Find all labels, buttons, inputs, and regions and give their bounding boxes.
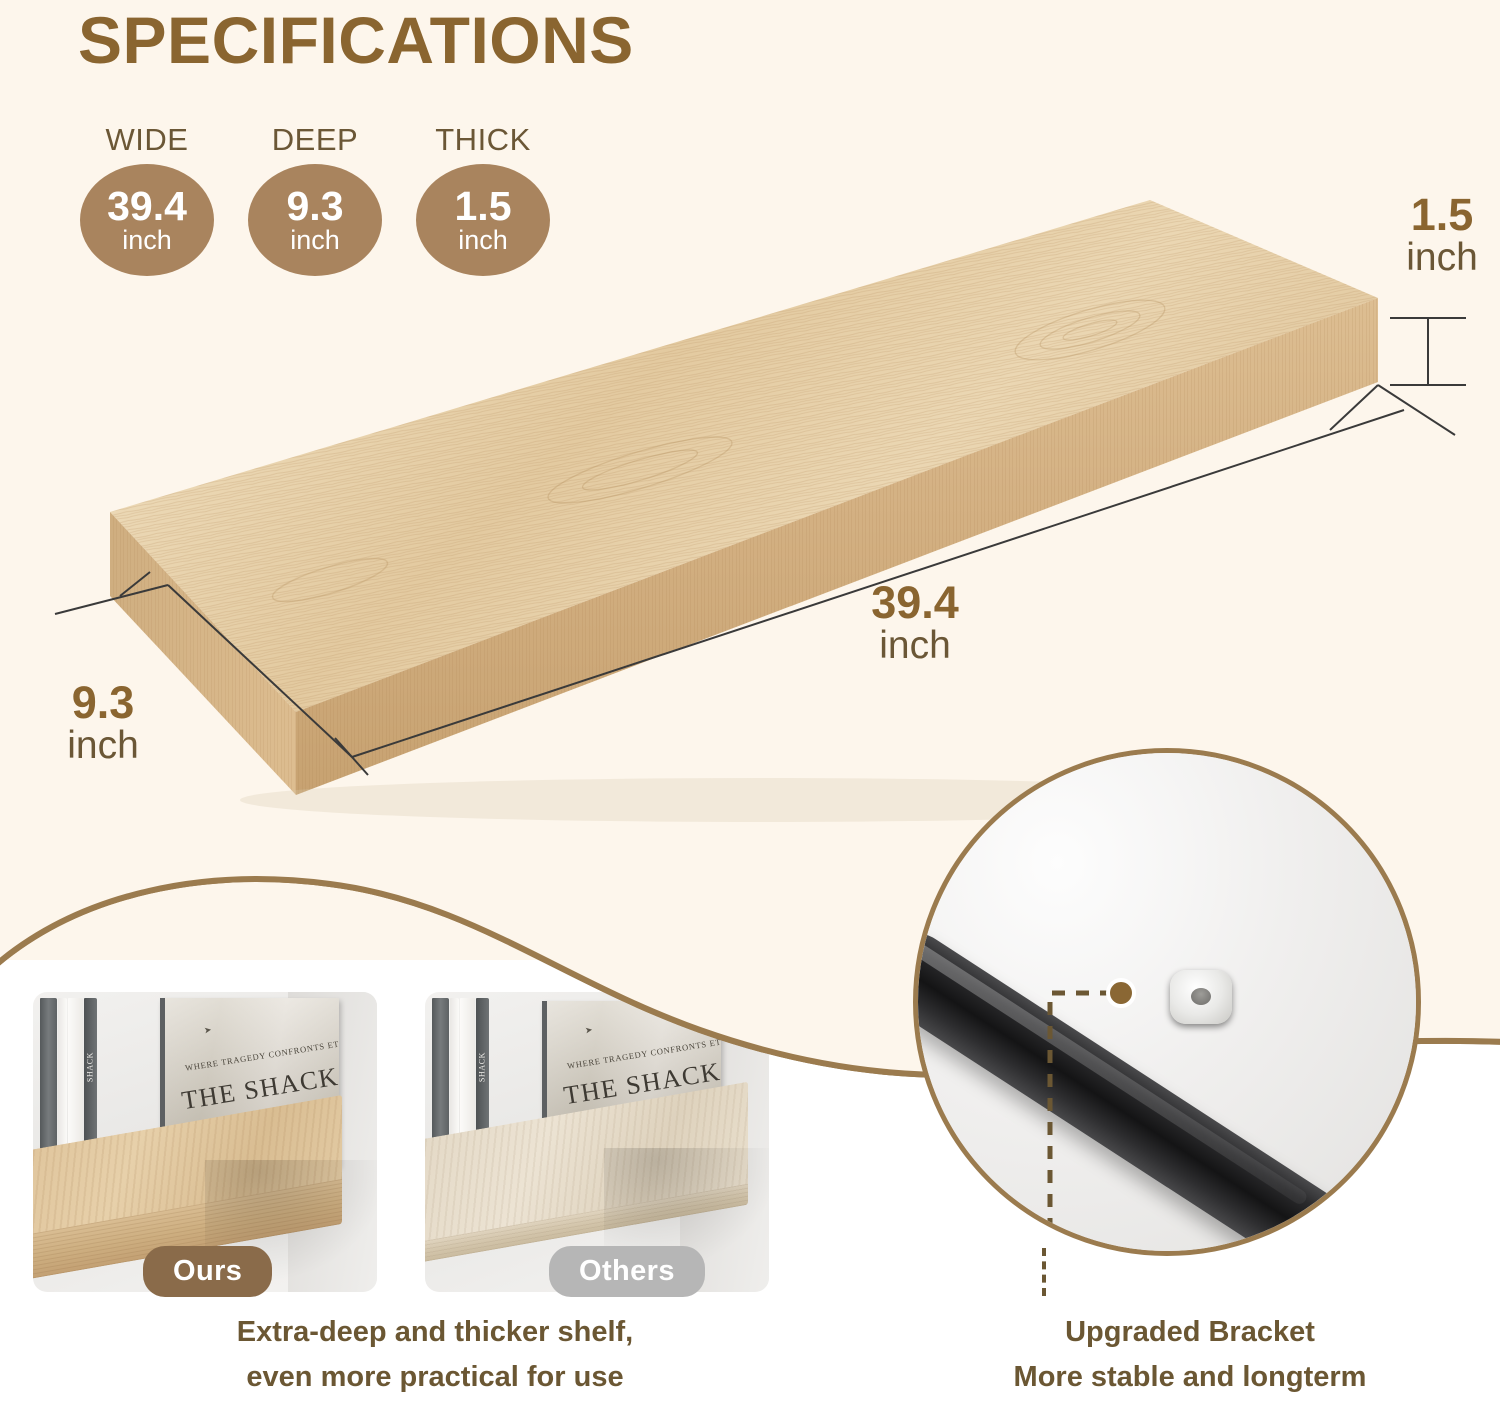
dimension-unit-depth: inch <box>28 725 178 768</box>
dimension-value-depth: 9.3 <box>28 680 178 725</box>
badge-others[interactable]: Others <box>549 1246 705 1297</box>
page-title: SPECIFICATIONS <box>78 2 634 78</box>
spec-value-thick: 1.5 <box>455 186 512 226</box>
bracket-caption: Upgraded Bracket More stable and longter… <box>955 1310 1425 1400</box>
spec-circle-thick: 1.5 inch <box>416 164 550 276</box>
bracket-detail-circle <box>913 748 1421 1256</box>
spec-item-wide: WIDE 39.4 inch <box>76 122 218 276</box>
spec-circle-deep: 9.3 inch <box>248 164 382 276</box>
spec-caption-deep: DEEP <box>244 122 386 158</box>
bracket-caption-line2: More stable and longterm <box>955 1355 1425 1400</box>
spec-caption-wide: WIDE <box>76 122 218 158</box>
spec-item-deep: DEEP 9.3 inch <box>244 122 386 276</box>
spec-unit-thick: inch <box>458 226 508 254</box>
dimension-label-width: 39.4 inch <box>820 580 1010 668</box>
bracket-marker-dot <box>1106 978 1136 1008</box>
comparison-caption-line2: even more practical for use <box>110 1355 760 1400</box>
spec-badge-row: WIDE 39.4 inch DEEP 9.3 inch THICK 1.5 i… <box>76 122 554 276</box>
dimension-value-width: 39.4 <box>820 580 1010 625</box>
dimension-unit-thickness: inch <box>1382 237 1500 280</box>
dimension-value-thickness: 1.5 <box>1382 192 1500 237</box>
dimension-unit-width: inch <box>820 625 1010 668</box>
spec-item-thick: THICK 1.5 inch <box>412 122 554 276</box>
spec-caption-thick: THICK <box>412 122 554 158</box>
dimension-label-thickness: 1.5 inch <box>1382 192 1500 280</box>
spec-value-deep: 9.3 <box>287 186 344 226</box>
badge-ours[interactable]: Ours <box>143 1246 272 1297</box>
comparison-caption: Extra-deep and thicker shelf, even more … <box>110 1310 760 1400</box>
bracket-caption-line1: Upgraded Bracket <box>955 1310 1425 1355</box>
spec-circle-wide: 39.4 inch <box>80 164 214 276</box>
spec-unit-deep: inch <box>290 226 340 254</box>
comparison-caption-line1: Extra-deep and thicker shelf, <box>110 1310 760 1355</box>
dimension-label-depth: 9.3 inch <box>28 680 178 768</box>
spec-value-wide: 39.4 <box>107 186 187 226</box>
bracket-callout-dashes <box>918 753 1421 1256</box>
bracket-callout-tail <box>1042 1248 1046 1296</box>
spec-unit-wide: inch <box>122 226 172 254</box>
